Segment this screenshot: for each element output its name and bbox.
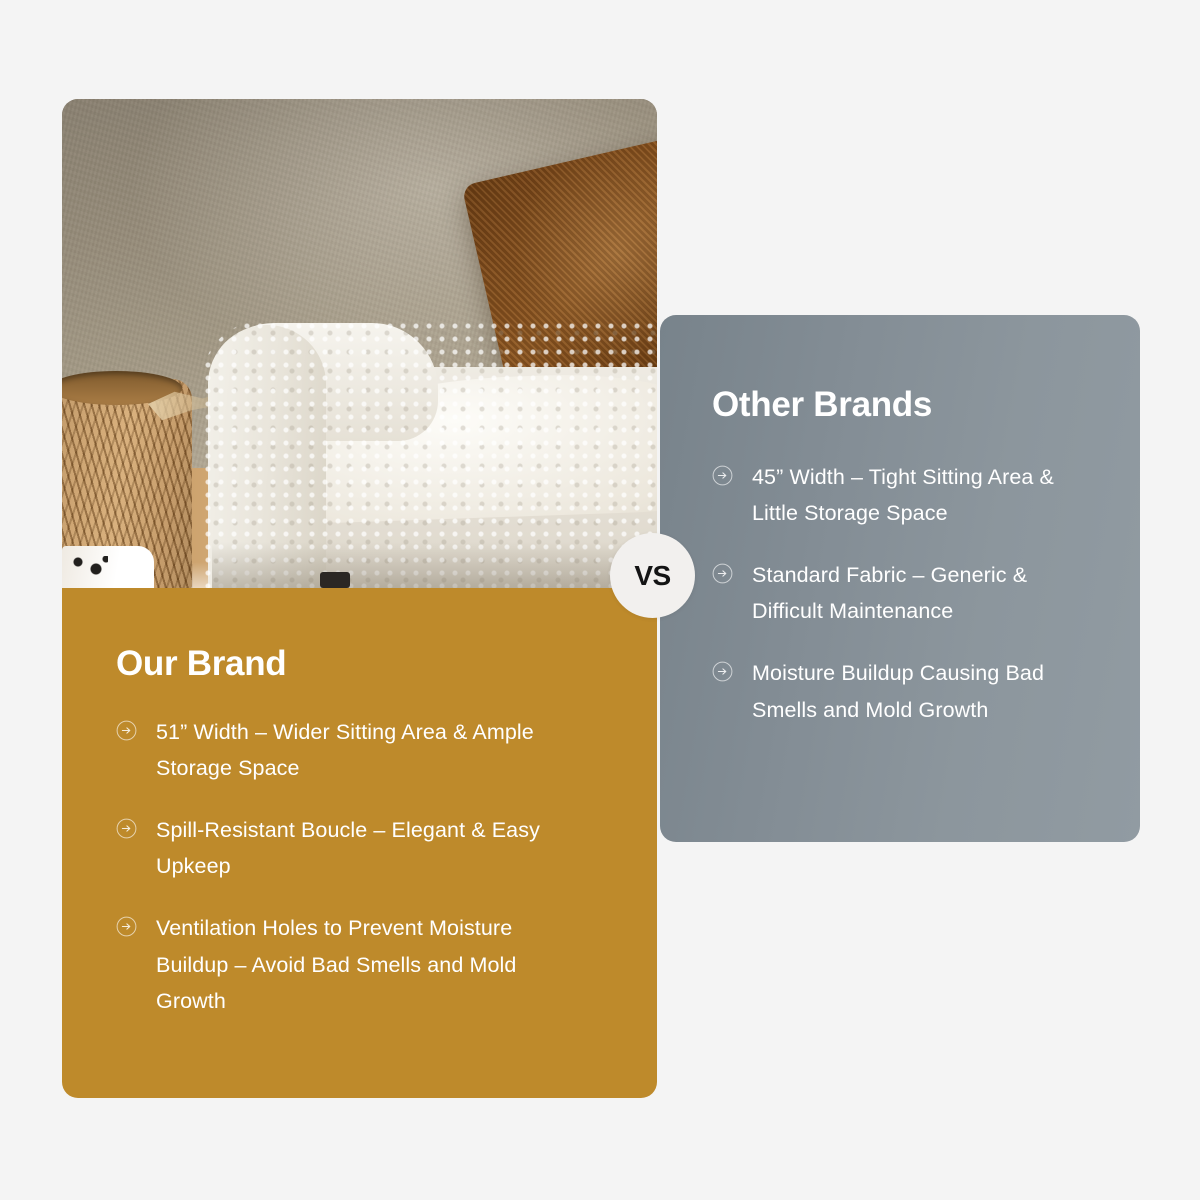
- list-item-label: Standard Fabric – Generic & Difficult Ma…: [752, 557, 1104, 629]
- circle-arrow-right-icon: [712, 563, 733, 584]
- our-brand-title: Our Brand: [116, 644, 613, 684]
- other-brands-bullet-list: 45” Width – Tight Sitting Area & Little …: [712, 459, 1106, 728]
- vs-label: VS: [634, 560, 670, 592]
- circle-arrow-right-icon: [116, 818, 137, 839]
- comparison-infographic: Other Brands 45” Width – Tight Sitting A…: [0, 0, 1200, 1200]
- list-item: Ventilation Holes to Prevent Moisture Bu…: [116, 910, 613, 1018]
- list-item-label: Moisture Buildup Causing Bad Smells and …: [752, 655, 1104, 727]
- our-brand-panel: Our Brand 51” Width – Wider Sitting Area…: [62, 588, 657, 1098]
- circle-arrow-right-icon: [116, 916, 137, 937]
- our-brand-bullet-list: 51” Width – Wider Sitting Area & Ample S…: [116, 714, 613, 1019]
- photo-floor-shadow: [212, 542, 657, 588]
- photo-rug: [62, 546, 154, 588]
- list-item-label: Ventilation Holes to Prevent Moisture Bu…: [156, 910, 586, 1018]
- list-item-label: Spill-Resistant Boucle – Elegant & Easy …: [156, 812, 586, 884]
- circle-arrow-right-icon: [116, 720, 137, 741]
- list-item: Spill-Resistant Boucle – Elegant & Easy …: [116, 812, 613, 884]
- list-item: Moisture Buildup Causing Bad Smells and …: [712, 655, 1106, 727]
- list-item: 51” Width – Wider Sitting Area & Ample S…: [116, 714, 613, 786]
- vs-badge: VS: [610, 533, 695, 618]
- photo-bench-foot: [320, 572, 350, 588]
- circle-arrow-right-icon: [712, 661, 733, 682]
- other-brands-panel: Other Brands 45” Width – Tight Sitting A…: [660, 315, 1140, 842]
- list-item-label: 51” Width – Wider Sitting Area & Ample S…: [156, 714, 586, 786]
- list-item-label: 45” Width – Tight Sitting Area & Little …: [752, 459, 1104, 531]
- circle-arrow-right-icon: [712, 465, 733, 486]
- list-item: 45” Width – Tight Sitting Area & Little …: [712, 459, 1106, 531]
- product-photo: [62, 99, 657, 588]
- list-item: Standard Fabric – Generic & Difficult Ma…: [712, 557, 1106, 629]
- other-brands-title: Other Brands: [712, 385, 1106, 425]
